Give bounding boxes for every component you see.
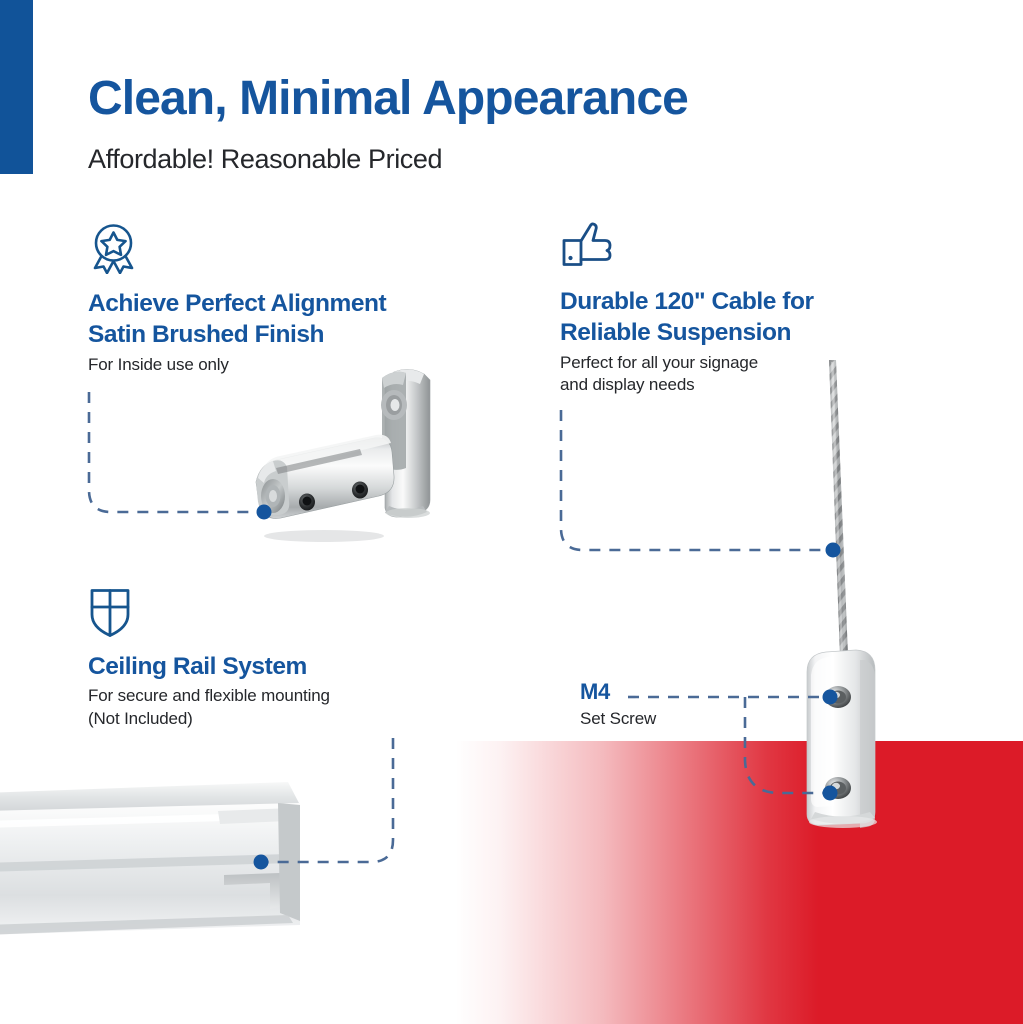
feature-title: Ceiling Rail System [88, 651, 488, 682]
red-background-panel [455, 741, 1023, 1024]
thumbs-up-icon [560, 220, 960, 274]
infographic-canvas: Clean, Minimal Appearance Affordable! Re… [0, 0, 1023, 1024]
callout-title: M4 [580, 679, 656, 705]
feature-subtitle: For Inside use only [88, 354, 508, 377]
award-badge-icon [88, 222, 508, 276]
feature-subtitle: For secure and flexible mounting (Not In… [88, 685, 488, 730]
cable-gripper-photo [795, 360, 891, 845]
feature-title: Achieve Perfect Alignment Satin Brushed … [88, 288, 508, 351]
shield-grid-icon [88, 585, 488, 639]
feature-cable: Durable 120" Cable for Reliable Suspensi… [560, 220, 960, 397]
feature-subtitle: Perfect for all your signage and display… [560, 352, 960, 397]
standoff-hardware-photo [232, 358, 462, 563]
callout-subtitle: Set Screw [580, 709, 656, 729]
header-accent-bar [0, 0, 33, 174]
feature-title: Durable 120" Cable for Reliable Suspensi… [560, 286, 960, 349]
page-subtitle: Affordable! Reasonable Priced [88, 144, 442, 175]
page-title: Clean, Minimal Appearance [88, 74, 688, 125]
feature-alignment: Achieve Perfect Alignment Satin Brushed … [88, 222, 508, 376]
leader-line-cable [561, 410, 828, 550]
ceiling-rail-photo [0, 775, 358, 935]
feature-rail: Ceiling Rail System For secure and flexi… [88, 585, 488, 731]
callout-m4: M4 Set Screw [580, 679, 656, 729]
